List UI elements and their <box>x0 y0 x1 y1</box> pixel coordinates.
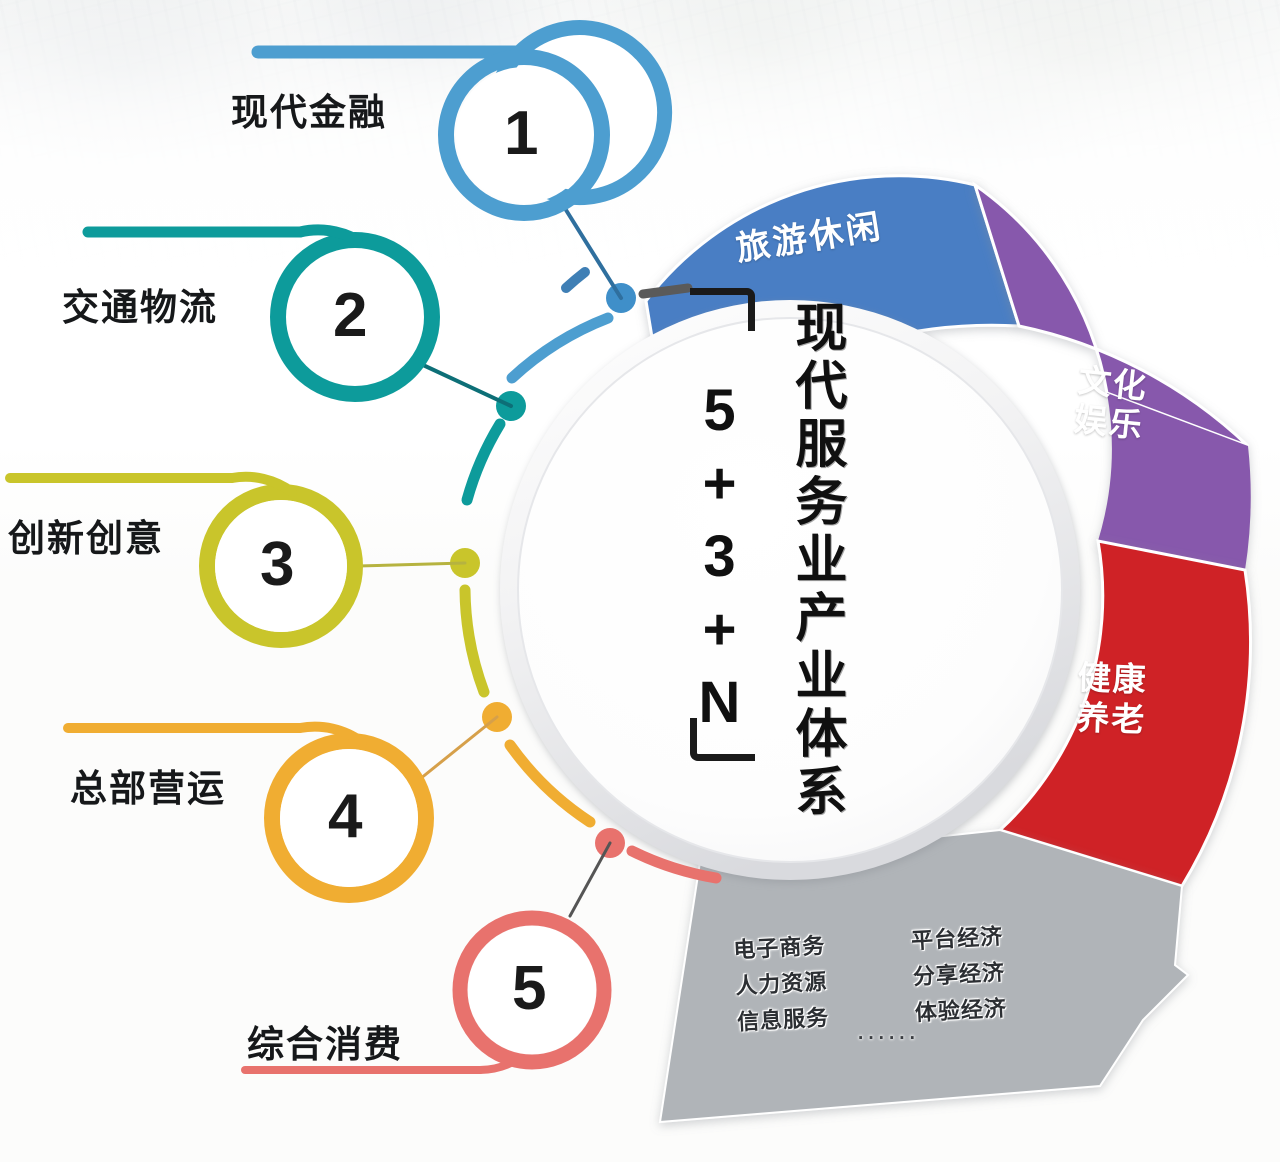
sector-culture-label-line2: 娱乐 <box>1072 400 1146 446</box>
sector-health-label: 健康 养老 <box>1076 658 1149 740</box>
center-vertical-title: 现代服务业产业体系 <box>790 300 842 822</box>
infographic-canvas: 1 2 3 4 5 现代金融 交通物流 创新创意 总部营运 综合消费 旅游休闲 … <box>0 0 1280 1162</box>
other-item-3: 分享经济 <box>912 951 1063 991</box>
quote-bracket-close-icon <box>690 718 755 761</box>
other-item-2: 人力资源 <box>734 961 885 1001</box>
sector-health-label-line2: 养老 <box>1076 697 1147 739</box>
sector-culture-label: 文化 娱乐 <box>1072 362 1150 447</box>
item-3-label: 创新创意 <box>8 508 164 562</box>
center-formula: 5+3+N <box>690 378 748 743</box>
diagram-svg <box>0 0 1280 1162</box>
other-item-0: 电子商务 <box>733 925 884 965</box>
item-5-number: 5 <box>512 958 546 1020</box>
item-5-label: 综合消费 <box>247 1014 403 1068</box>
item-1-number: 1 <box>504 103 538 165</box>
sector-health-label-line1: 健康 <box>1077 658 1148 700</box>
other-item-1: 平台经济 <box>910 916 1061 956</box>
quote-bracket-open-icon <box>690 288 755 331</box>
item-2-label: 交通物流 <box>62 277 218 331</box>
other-sector-ellipsis: ······ <box>858 1028 920 1050</box>
item-1-label: 现代金融 <box>231 82 387 136</box>
connector-dash-tourism <box>643 288 688 294</box>
item-4-label: 总部营运 <box>70 758 226 812</box>
other-sector-item-grid: 电子商务 平台经济 人力资源 分享经济 信息服务 体验经济 <box>733 915 1068 1036</box>
item-2-number: 2 <box>333 285 367 347</box>
item-4-number: 4 <box>328 786 362 848</box>
item-3-number: 3 <box>260 534 294 596</box>
